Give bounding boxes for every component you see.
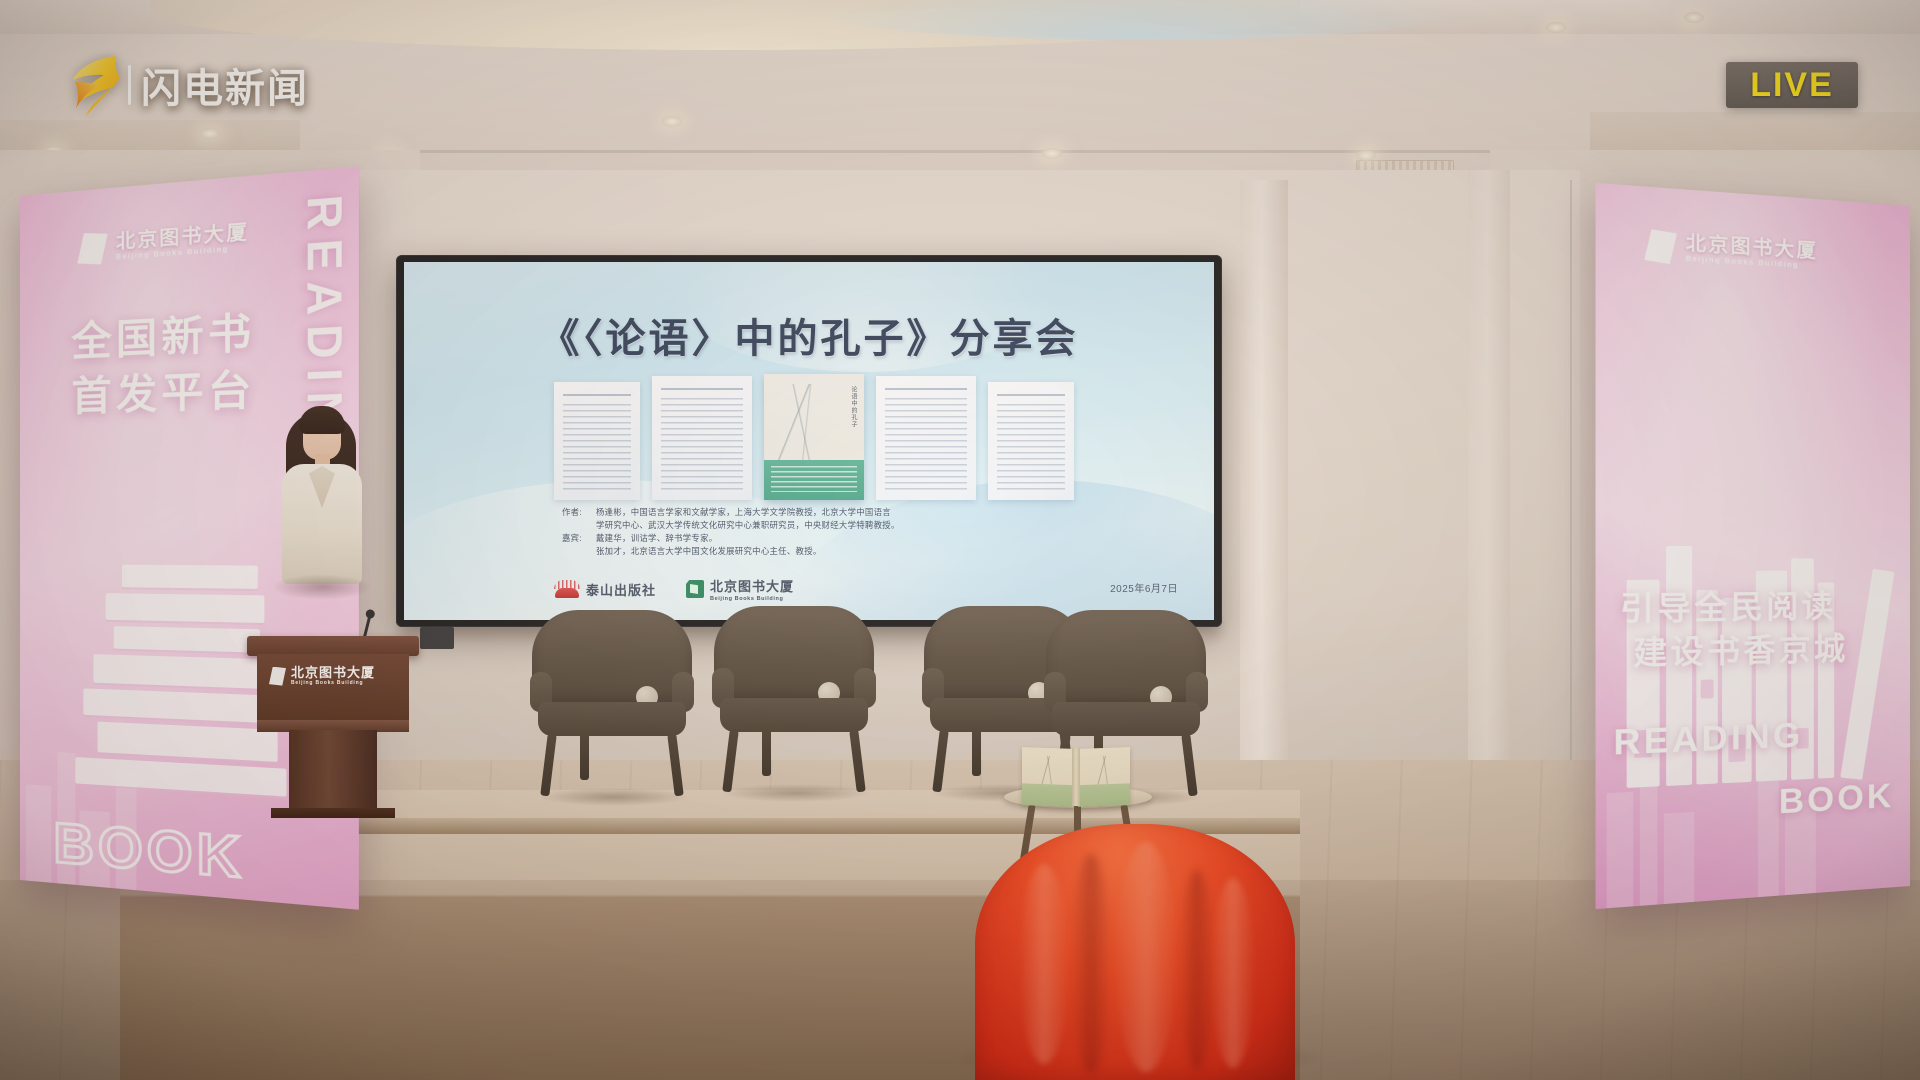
credit-line: 张加才，北京语言大学中国文化发展研究中心主任、教授。 <box>596 546 822 556</box>
channel-name: 闪电新闻 <box>141 56 309 114</box>
credit-row: 嘉宾: 戴建华，训诂学、辞书学专家。 张加才，北京语言大学中国文化发展研究中心主… <box>562 532 1082 558</box>
podium: 北京图书大厦 Beijing Books Building <box>253 636 413 816</box>
cover-caption: 论语中的孔子 <box>849 386 856 428</box>
banner-right: 北京图书大厦 Beijing Books Building 引导全民阅读 建设书… <box>1596 183 1910 909</box>
cover-artwork <box>770 384 834 462</box>
banner-right-word-reading: READING <box>1613 716 1803 764</box>
banner-right-headline-line2: 建设书香京城 <box>1633 631 1848 674</box>
chair <box>528 610 696 800</box>
beijing-books-building-icon <box>1644 229 1677 265</box>
presentation-slide: 《〈论语〉中的孔子》分享会 论语中的孔子 作者: 杨逢彬，中国语言学家和文献学家… <box>404 262 1214 620</box>
wall-seam <box>1570 180 1572 780</box>
chair <box>710 606 878 796</box>
podium-top <box>247 636 419 656</box>
slide-book-gallery: 论语中的孔子 <box>554 372 1074 500</box>
credit-row: 作者: 杨逢彬，中国语言学家和文献学家，上海大学文学院教授，北京大学中国语言 学… <box>562 506 1082 532</box>
slide-date: 2025年6月7日 <box>1110 580 1178 595</box>
live-badge-label: LIVE <box>1750 68 1834 102</box>
credit-line: 戴建华，训诂学、辞书学专家。 <box>596 533 717 543</box>
podium-logo: 北京图书大厦 Beijing Books Building <box>269 666 375 686</box>
presenter-hair-top <box>299 406 345 434</box>
broadcast-screenshot: 北京图书大厦 Beijing Books Building 全国新书 首发平台 … <box>0 0 1920 1080</box>
red-cloth-cover <box>975 824 1295 1080</box>
presenter <box>276 398 368 648</box>
channel-logo: 闪电新闻 <box>66 52 309 118</box>
downlight-icon <box>200 128 220 139</box>
cover-band <box>764 460 864 500</box>
publisher-bbb-label: 北京图书大厦 <box>710 579 794 594</box>
credit-label: 作者: <box>562 506 596 532</box>
slide-credits: 作者: 杨逢彬，中国语言学家和文献学家，上海大学文学院教授，北京大学中国语言 学… <box>562 506 1082 558</box>
displayed-open-book <box>1022 748 1130 806</box>
slide-publisher-row: 泰山出版社 北京图书大厦 Beijing Books Building <box>554 574 1094 604</box>
slide-title: 《〈论语〉中的孔子》分享会 <box>404 306 1214 364</box>
banner-right-word-book: BOOK <box>1779 777 1894 823</box>
credit-line: 学研究中心、武汉大学传统文化研究中心兼职研究员，中央财经大学特聘教授。 <box>596 520 900 530</box>
ceiling-seam <box>300 150 1620 153</box>
downlight-icon <box>1356 150 1376 161</box>
wall-pillar <box>1468 170 1510 770</box>
podium-base <box>271 808 395 818</box>
logo-divider <box>128 65 131 105</box>
downlight-icon <box>1684 12 1704 23</box>
wall-pillar <box>1240 180 1288 760</box>
podium-logo-cn: 北京图书大厦 <box>291 666 375 680</box>
banner-left-headline-line2: 首发平台 <box>71 366 255 421</box>
publisher-bbb: 北京图书大厦 Beijing Books Building <box>686 576 794 602</box>
banner-left-headline-line1: 全国新书 <box>71 309 255 367</box>
featured-book-cover: 论语中的孔子 <box>764 374 864 500</box>
credit-label: 嘉宾: <box>562 532 596 558</box>
publisher-taishan: 泰山出版社 <box>554 580 656 599</box>
beijing-books-building-icon <box>269 667 286 686</box>
downlight-icon <box>1546 22 1566 33</box>
podium-logo-en: Beijing Books Building <box>291 680 375 686</box>
taishan-sunrise-icon <box>554 580 580 598</box>
beijing-books-building-icon <box>77 231 107 266</box>
book-page-image <box>554 382 640 500</box>
podium-column <box>289 730 377 818</box>
book-page-image <box>988 382 1074 500</box>
presenter-shadow <box>272 574 372 600</box>
credit-line: 杨逢彬，中国语言学家和文献学家，上海大学文学院教授，北京大学中国语言 <box>596 507 891 517</box>
beijing-books-building-icon <box>686 580 704 598</box>
downlight-icon <box>1042 148 1062 159</box>
book-page-image <box>876 376 976 500</box>
banner-right-headline-line1: 引导全民阅读 <box>1620 589 1836 630</box>
live-badge: LIVE <box>1726 62 1858 108</box>
downlight-icon <box>662 116 682 127</box>
publisher-bbb-label-en: Beijing Books Building <box>710 596 794 602</box>
book-page-image <box>652 376 752 500</box>
publisher-taishan-label: 泰山出版社 <box>586 580 656 599</box>
lightning-bolt-icon <box>66 52 122 118</box>
screen-mount <box>420 627 454 649</box>
